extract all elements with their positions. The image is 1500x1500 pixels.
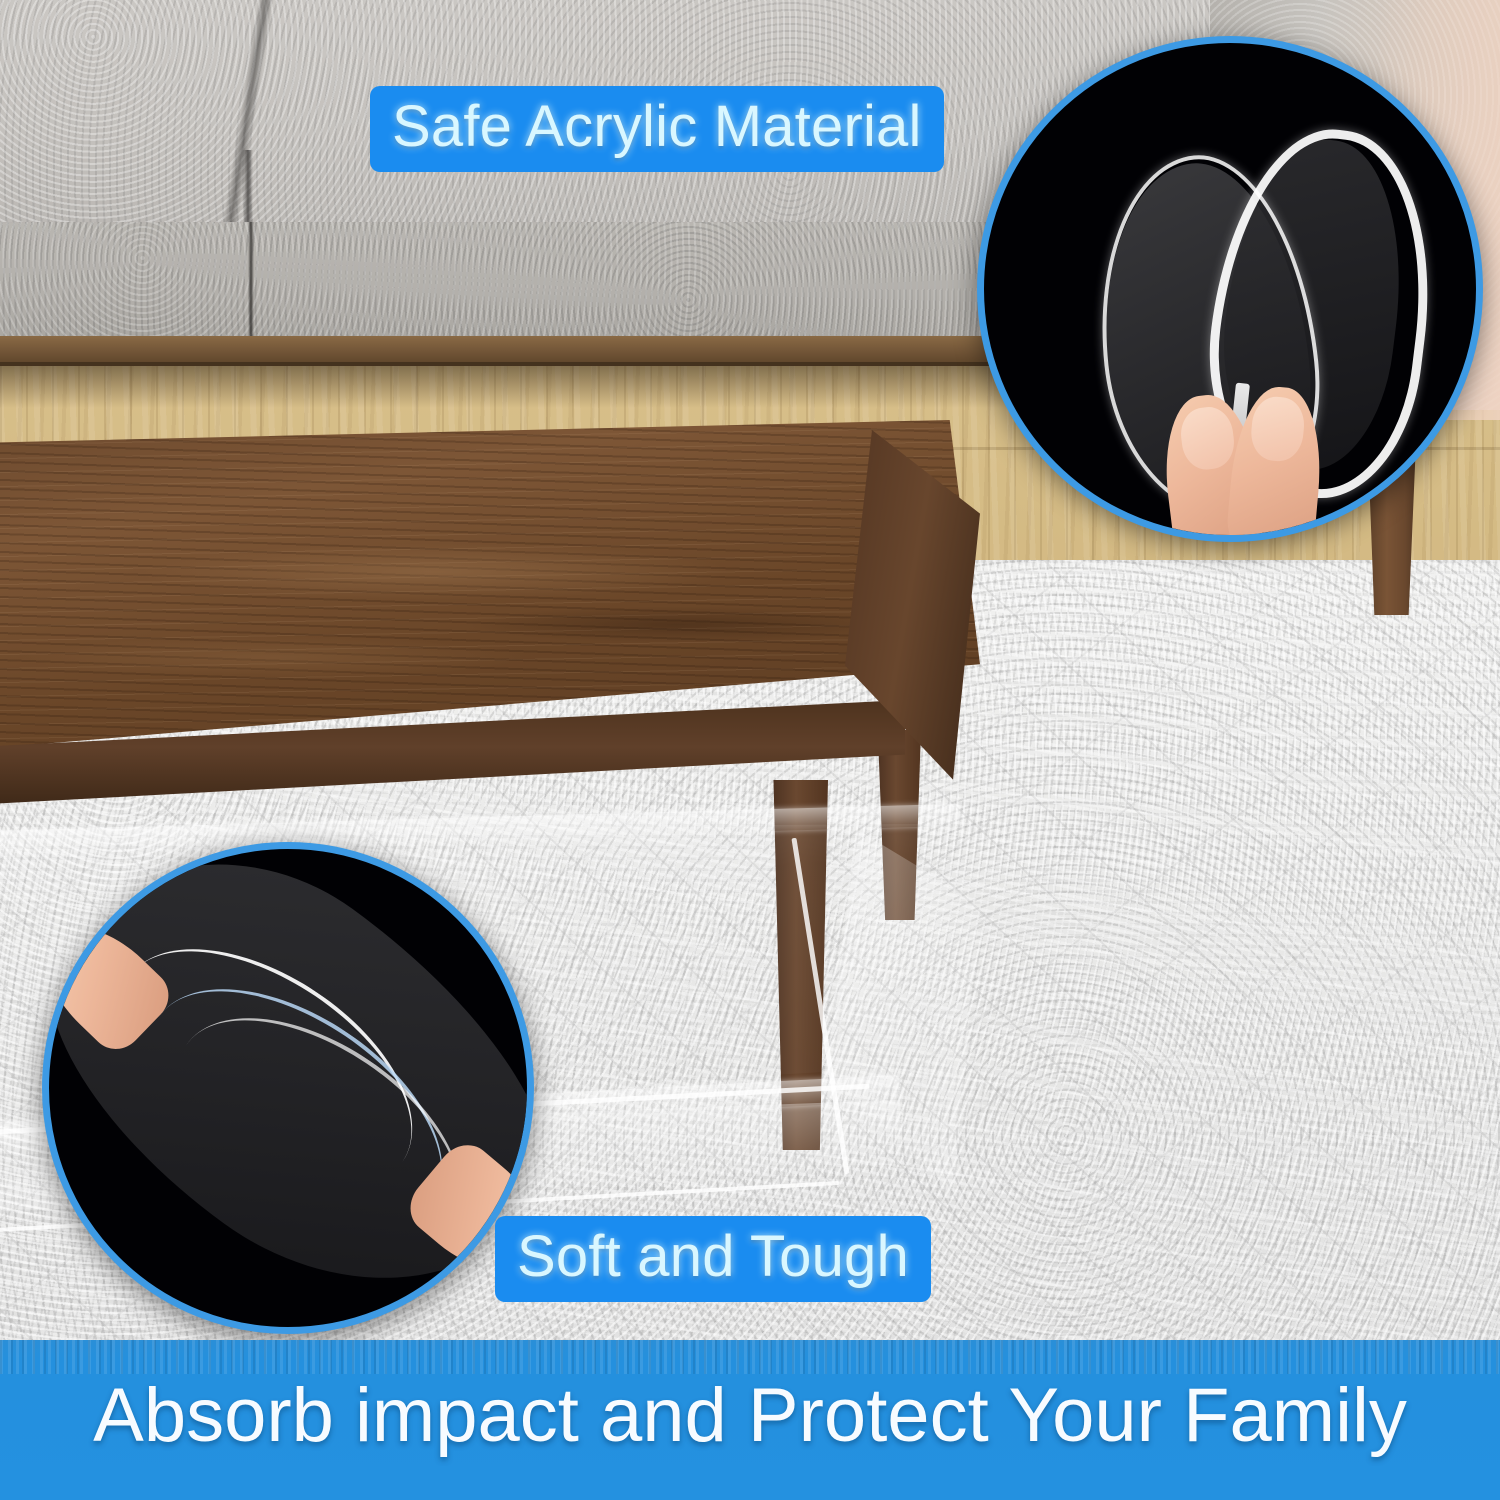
badge-soft-and-tough: Soft and Tough bbox=[495, 1216, 931, 1302]
banner-texture-strip bbox=[0, 1340, 1500, 1374]
fingernail bbox=[1249, 395, 1306, 463]
badge-safe-acrylic-material: Safe Acrylic Material bbox=[370, 86, 944, 172]
fingernail bbox=[1178, 404, 1237, 472]
bottom-banner: Absorb impact and Protect Your Family bbox=[0, 1340, 1500, 1500]
product-image: Safe Acrylic Material Soft and Tough Abs… bbox=[0, 0, 1500, 1500]
banner-headline: Absorb impact and Protect Your Family bbox=[0, 1378, 1500, 1454]
inset-safe-acrylic-material bbox=[977, 36, 1483, 542]
inset-soft-and-tough bbox=[42, 842, 534, 1334]
coffee-table bbox=[0, 400, 1000, 860]
sofa-seat-seam bbox=[248, 222, 254, 344]
table-wood-grain bbox=[0, 420, 980, 750]
